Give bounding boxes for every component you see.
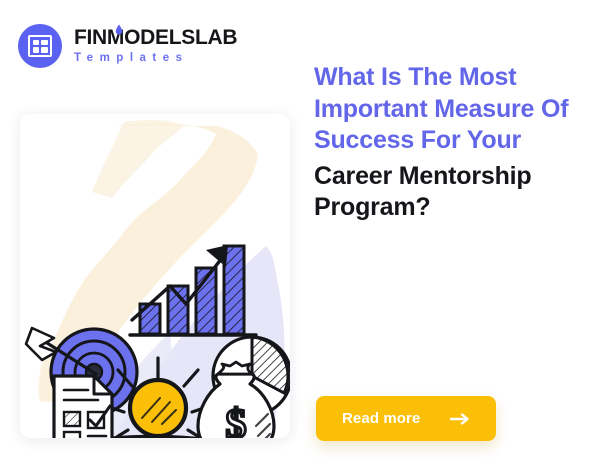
brand-wordmark: FINMODELSLAB Templates bbox=[74, 27, 237, 65]
headline-lead: What Is The Most Important Measure Of Su… bbox=[314, 62, 582, 157]
brand-tagline: Templates bbox=[74, 53, 237, 65]
grid-squares-icon bbox=[28, 35, 52, 57]
page-title: What Is The Most Important Measure Of Su… bbox=[314, 62, 582, 224]
brand-logo[interactable]: FINMODELSLAB Templates bbox=[18, 24, 237, 68]
read-more-button[interactable]: Read more bbox=[316, 396, 496, 441]
illustration-card: $ bbox=[20, 114, 290, 438]
headline-block: What Is The Most Important Measure Of Su… bbox=[314, 62, 582, 224]
business-success-balance-illustration: $ bbox=[20, 114, 290, 438]
arrow-right-icon bbox=[450, 413, 470, 425]
checklist-document-icon bbox=[54, 376, 112, 438]
read-more-label: Read more bbox=[342, 410, 420, 427]
svg-text:$: $ bbox=[226, 402, 247, 438]
brand-name: FINMODELSLAB bbox=[74, 27, 237, 48]
headline-topic: Career Mentorship Program? bbox=[314, 161, 582, 224]
brand-name-text: FINMODELSLAB bbox=[74, 26, 237, 49]
brand-mark-circle bbox=[18, 24, 62, 68]
promo-banner: FINMODELSLAB Templates bbox=[0, 0, 600, 464]
